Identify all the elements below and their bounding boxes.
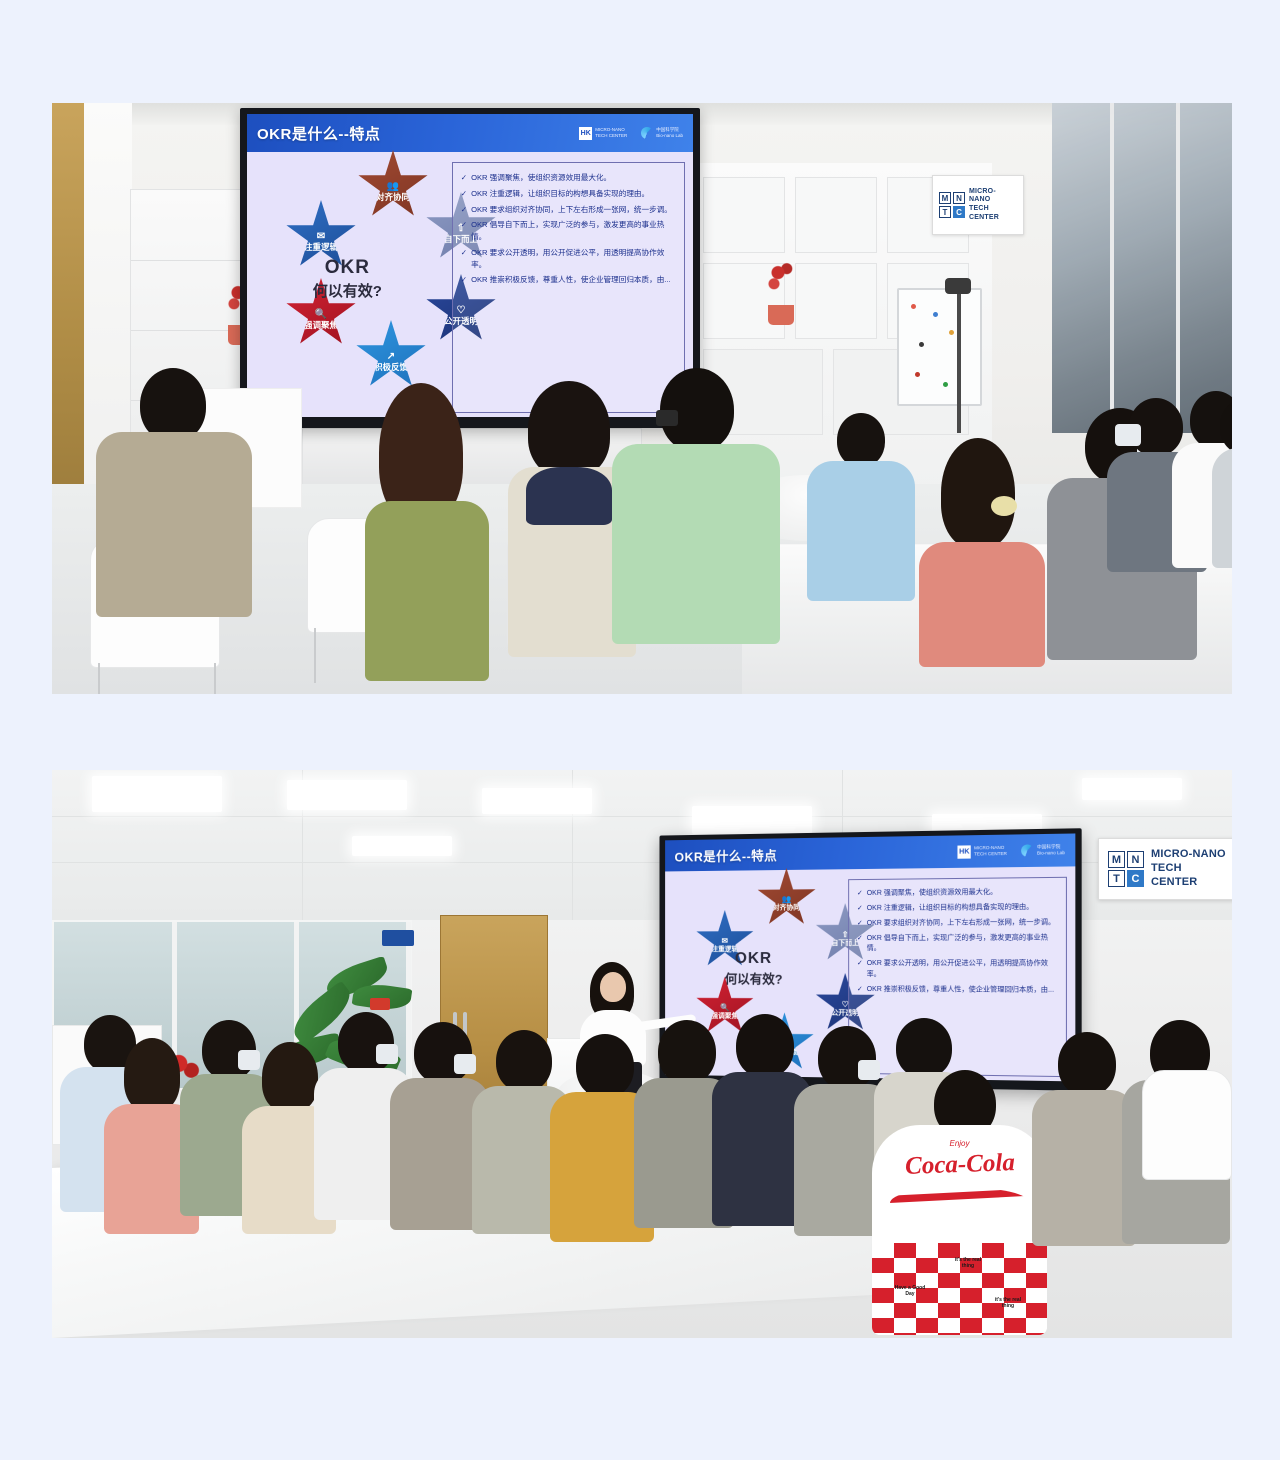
star-diagram: 👥 对齐协同 ✉ 注重逻辑 ⇧ 自下而上 🔍	[247, 152, 448, 417]
star-feedback-label: 积极反馈	[374, 363, 408, 372]
glass-partition-top	[1052, 103, 1232, 433]
bullet-item: ✓ OKR 要求组织对齐协同，上下左右形成一张网，统一步调。	[857, 918, 1058, 930]
mntc-logo-grid: M N T C	[1108, 851, 1144, 887]
center-line1: OKR	[725, 950, 783, 968]
bullet-item: ✓ OKR 要求公开透明，用公开促进公平，用透明提高协作效率。	[857, 959, 1058, 981]
cola-tag: it's the real thing	[950, 1257, 986, 1269]
star-align-label: 对齐协同	[773, 904, 800, 911]
bullet-item: ✓ OKR 注重逻辑，让组织目标的构想具备实现的理由。	[857, 902, 1058, 914]
mntc-cell-c: C	[1127, 870, 1144, 887]
center-line2: 何以有效?	[725, 969, 783, 988]
coca-cola-jacket: Enjoy Coca-Cola Have a Good Day it's the…	[872, 1125, 1047, 1335]
wall-sign-mntc-bottom: M N T C MICRO-NANO TECH CENTER	[1098, 838, 1232, 900]
bullet-text: OKR 要求公开透明，用公开促进公平，用透明提高协作效率。	[471, 247, 676, 271]
bullet-item: ✓ OKR 要求公开透明，用公开促进公平，用透明提高协作效率。	[461, 247, 676, 271]
mntc-logo-grid: M N T C	[939, 192, 965, 218]
bullet-text: OKR 强调聚焦，使组织资源效用最大化。	[867, 887, 1058, 900]
mntc-cell-n: N	[1127, 851, 1144, 868]
ceiling-light	[352, 836, 452, 856]
mntc-cell-m: M	[939, 192, 951, 204]
star-center-text: OKR 何以有效?	[313, 257, 382, 301]
logo-secondary: 中国科学院 Bio-nano Lab	[641, 127, 683, 139]
audience-member	[1032, 1032, 1136, 1247]
bullet-text: OKR 要求组织对齐协同，上下左右形成一张网，统一步调。	[867, 918, 1058, 930]
photo-bottom: M N T C MICRO-NANO TECH CENTER OKR是什么--特…	[52, 770, 1232, 1338]
bullet-text: OKR 强调聚焦，使组织资源效用最大化。	[471, 172, 676, 184]
bullet-text: OKR 注重逻辑，让组织目标的构想具备实现的理由。	[867, 902, 1058, 914]
people-icon: 👥	[782, 895, 792, 903]
bullet-text: OKR 要求组织对齐协同，上下左右形成一张网，统一步调。	[471, 204, 676, 216]
check-icon: ✓	[857, 959, 863, 981]
cola-tag: it's the real thing	[990, 1297, 1026, 1309]
check-icon: ✓	[461, 274, 467, 286]
logo-primary-line2: TECH CENTER	[974, 851, 1007, 857]
check-icon: ✓	[461, 247, 467, 271]
bullet-item: ✓ OKR 倡导自下而上，实现广泛的参与，激发更高的事业热情。	[461, 219, 676, 243]
bullet-item: ✓ OKR 强调聚焦，使组织资源效用最大化。	[461, 172, 676, 184]
audience-member	[917, 438, 1047, 663]
wall-sign-line2: TECH CENTER	[1151, 862, 1228, 890]
cola-swoosh	[890, 1187, 1030, 1203]
mntc-cell-n: N	[953, 192, 965, 204]
check-icon: ✓	[461, 219, 467, 243]
logo-primary-line2: TECH CENTER	[595, 133, 627, 139]
bullet-item: ✓ OKR 注重逻辑，让组织目标的构想具备实现的理由。	[461, 188, 676, 200]
wood-wall-panel	[52, 103, 84, 523]
ceiling-light	[692, 806, 812, 834]
bullet-text: OKR 要求公开透明，用公开促进公平，用透明提高协作效率。	[867, 959, 1058, 981]
flower-pot-right	[768, 305, 794, 325]
search-icon: 🔍	[315, 310, 327, 320]
star-align: 👥 对齐协同	[357, 150, 429, 222]
bullet-text: OKR 倡导自下而上，实现广泛的参与，激发更高的事业热情。	[867, 933, 1058, 955]
bullet-item: ✓ OKR 倡导自下而上，实现广泛的参与，激发更高的事业热情。	[857, 933, 1058, 955]
star-align-label: 对齐协同	[376, 193, 410, 202]
check-icon: ✓	[857, 985, 863, 996]
wall-sign-mntc: M N T C MICRO-NANO TECH CENTER	[932, 175, 1024, 235]
slide-logos: HK MICRO-NANO TECH CENTER 中国科学院 Bio-nano…	[579, 127, 683, 140]
bullet-item: ✓ OKR 强调聚焦，使组织资源效用最大化。	[857, 887, 1058, 900]
search-icon: 🔍	[720, 1004, 730, 1012]
slide-title: OKR是什么--特点	[675, 845, 778, 865]
bullet-item: ✓ OKR 要求组织对齐协同，上下左右形成一张网，统一步调。	[461, 204, 676, 216]
ceiling-light	[482, 788, 592, 814]
audience-member	[807, 413, 917, 613]
audience-member	[357, 383, 487, 673]
envelope-icon: ✉	[317, 232, 325, 242]
slide-header: OKR是什么--特点 HK MICRO-NANO TECH CENTER	[665, 833, 1075, 871]
mntc-cell-c: C	[953, 206, 965, 218]
check-icon: ✓	[857, 919, 863, 930]
speaker-box	[945, 278, 971, 294]
bullet-text: OKR 倡导自下而上，实现广泛的参与，激发更高的事业热情。	[471, 219, 676, 243]
cola-enjoy-text: Enjoy	[949, 1139, 969, 1148]
check-icon: ✓	[857, 889, 863, 900]
mntc-cell-m: M	[1108, 851, 1125, 868]
cola-tag: Have a Good Day	[890, 1285, 930, 1297]
logo-secondary-line2: Bio-nano Lab	[1037, 850, 1065, 856]
ceiling-light	[1082, 778, 1182, 800]
center-line1: OKR	[313, 257, 382, 279]
wall-sign-line1: MICRO-NANO	[1151, 848, 1228, 862]
ceiling-light	[92, 776, 222, 812]
fire-alarm	[370, 998, 390, 1010]
bullet-item: ✓ OKR 推崇积极反馈，尊重人性，使企业管理回归本质，由...	[461, 274, 676, 286]
photo-top: M N T C MICRO-NANO TECH CENTER	[52, 103, 1232, 694]
star-center-text: OKR 何以有效?	[725, 950, 783, 988]
swirl-icon	[1021, 844, 1033, 856]
bullet-item: ✓ OKR 推崇积极反馈，尊重人性，使企业管理回归本质，由...	[857, 985, 1058, 997]
star-focus-label: 强调聚焦	[304, 321, 338, 330]
center-line2: 何以有效?	[313, 280, 382, 301]
logo-primary-mark: HK	[958, 845, 971, 858]
audience-member	[1212, 398, 1232, 568]
wall-sign-line2: TECH CENTER	[969, 205, 1017, 223]
whiteboard	[897, 288, 982, 406]
cola-brand-text: Coca-Cola	[904, 1149, 1015, 1181]
audience-member	[612, 368, 782, 668]
check-icon: ✓	[461, 188, 467, 200]
star-feedback: ↗ 积极反馈	[355, 320, 427, 392]
logo-primary: HK MICRO-NANO TECH CENTER	[579, 127, 627, 140]
photo-collage-page: M N T C MICRO-NANO TECH CENTER	[0, 0, 1280, 1460]
logo-secondary-text: 中国科学院 Bio-nano Lab	[1037, 844, 1065, 856]
check-icon: ✓	[461, 172, 467, 184]
mntc-cell-t: T	[1108, 870, 1125, 887]
exit-sign	[382, 930, 414, 946]
feedback-icon: ↗	[387, 352, 395, 362]
mntc-cell-t: T	[939, 206, 951, 218]
red-flower-decoration-right	[762, 253, 802, 309]
logo-primary-text: MICRO-NANO TECH CENTER	[595, 127, 627, 139]
swirl-icon	[641, 127, 653, 139]
ceiling-light	[287, 780, 407, 810]
wall-sign-text: MICRO-NANO TECH CENTER	[1151, 848, 1228, 889]
slide-logos: HK MICRO-NANO TECH CENTER 中国科学院 Bio-nano…	[958, 843, 1065, 858]
check-icon: ✓	[461, 204, 467, 216]
logo-secondary: 中国科学院 Bio-nano Lab	[1021, 844, 1065, 857]
check-icon: ✓	[857, 934, 863, 956]
star-align: 👥 对齐协同	[756, 868, 816, 930]
logo-secondary-text: 中国科学院 Bio-nano Lab	[656, 127, 683, 139]
logo-primary-mark: HK	[579, 127, 592, 140]
check-icon: ✓	[857, 904, 863, 915]
slide-title: OKR是什么--特点	[257, 123, 380, 144]
bullet-text: OKR 注重逻辑，让组织目标的构想具备实现的理由。	[471, 188, 676, 200]
wall-sign-text: MICRO-NANO TECH CENTER	[969, 188, 1017, 223]
envelope-icon: ✉	[722, 937, 728, 945]
mic-stand	[957, 288, 961, 433]
glasses-icon	[656, 410, 678, 426]
slide-header: OKR是什么--特点 HK MICRO-NANO TECH CENTER	[247, 114, 693, 152]
audience-member	[92, 368, 252, 668]
logo-primary: HK MICRO-NANO TECH CENTER	[958, 844, 1007, 858]
chair	[1142, 1070, 1232, 1180]
bullet-text: OKR 推崇积极反馈，尊重人性，使企业管理回归本质，由...	[471, 274, 676, 286]
logo-secondary-line2: Bio-nano Lab	[656, 133, 683, 139]
bullet-text: OKR 推崇积极反馈，尊重人性，使企业管理回归本质，由...	[867, 985, 1058, 997]
people-icon: 👥	[387, 182, 399, 192]
logo-primary-text: MICRO-NANO TECH CENTER	[974, 845, 1007, 857]
star-logic-label: 注重逻辑	[304, 243, 338, 252]
wall-sign-line1: MICRO-NANO	[969, 188, 1017, 206]
